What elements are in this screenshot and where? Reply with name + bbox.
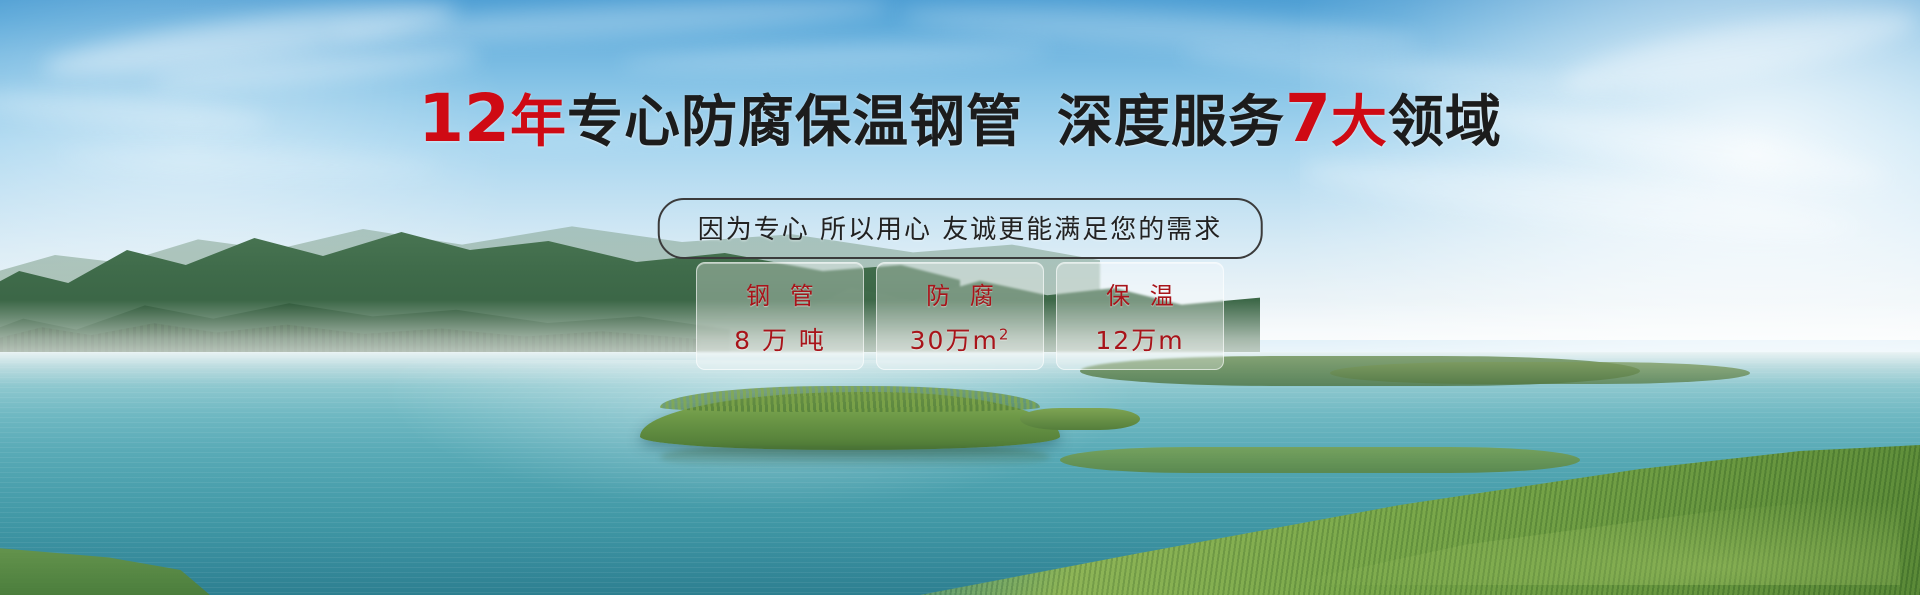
stat-card-value: 12万m: [1095, 321, 1184, 357]
headline-years-unit: 年: [510, 90, 567, 155]
promo-banner: 12年专心防腐保温钢管深度服务7大领域 因为专心 所以用心 友诚更能满足您的需求…: [0, 0, 1920, 595]
stat-card-anticorrosion: 防 腐 30万m2: [876, 262, 1044, 370]
stat-card-label: 钢 管: [740, 276, 820, 311]
headline-years-number: 12: [418, 80, 510, 157]
stat-card-value-text: 12万m: [1095, 326, 1184, 355]
stat-card-steel-pipe: 钢 管 8 万 吨: [696, 262, 864, 370]
headline-highlight-unit: 大: [1331, 90, 1388, 155]
banner-content: 12年专心防腐保温钢管深度服务7大领域 因为专心 所以用心 友诚更能满足您的需求…: [0, 0, 1920, 595]
stat-card-value-text: 30万m: [910, 326, 999, 355]
stat-card-insulation: 保 温 12万m: [1056, 262, 1224, 370]
stat-card-value: 8 万 吨: [734, 321, 826, 357]
banner-subtitle-pill: 因为专心 所以用心 友诚更能满足您的需求: [658, 198, 1263, 259]
headline-highlight-number: 7: [1285, 80, 1331, 157]
banner-headline: 12年专心防腐保温钢管深度服务7大领域: [0, 86, 1920, 152]
headline-part1: 专心防腐保温钢管: [567, 90, 1023, 155]
stat-card-value-text: 8 万 吨: [734, 326, 826, 355]
stat-cards-group: 钢 管 8 万 吨 防 腐 30万m2 保 温 12万m: [696, 262, 1224, 370]
headline-part2: 深度服务: [1057, 90, 1285, 155]
stat-card-value-superscript: 2: [999, 325, 1011, 343]
stat-card-label: 保 温: [1100, 276, 1180, 311]
headline-part3: 领域: [1388, 90, 1502, 155]
stat-card-label: 防 腐: [920, 276, 1000, 311]
stat-card-value: 30万m2: [910, 321, 1011, 357]
